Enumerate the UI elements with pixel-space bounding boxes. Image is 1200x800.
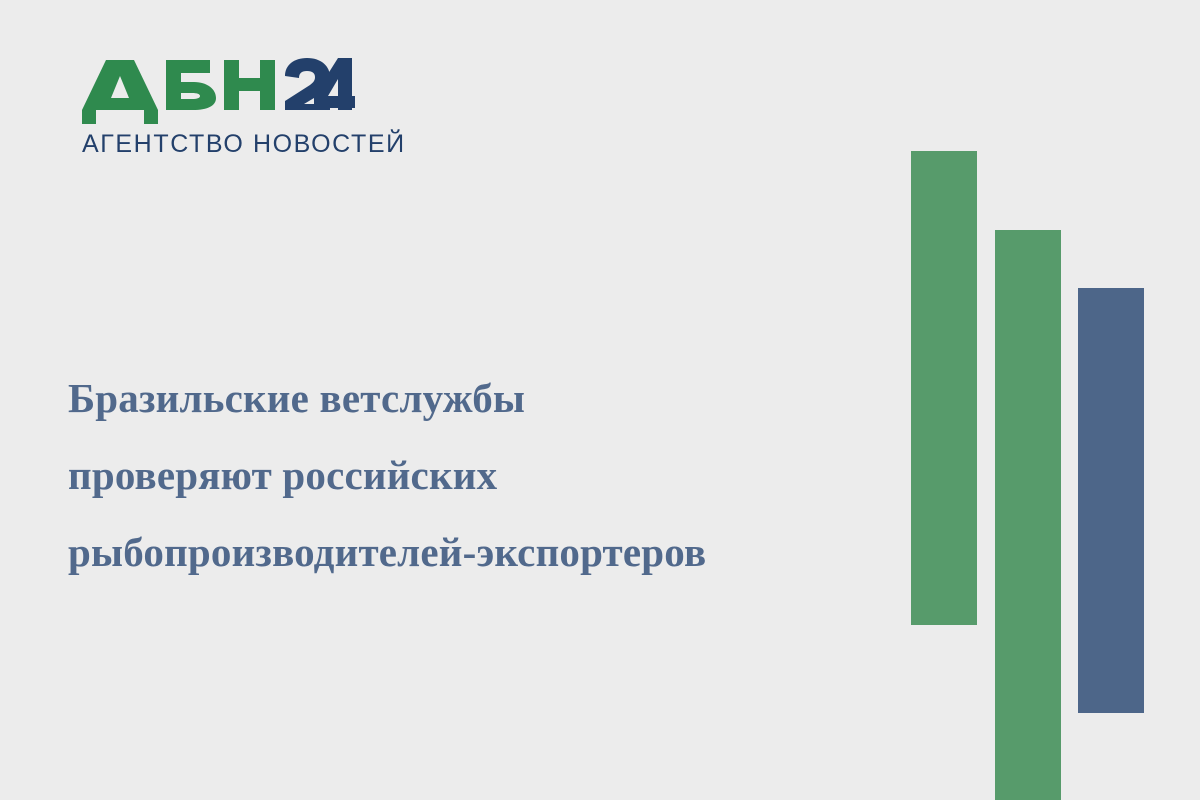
- headline-line-1: Бразильские ветслужбы: [68, 360, 868, 437]
- chart-bar: [995, 230, 1061, 800]
- abn24-logo[interactable]: АГЕНТСТВО НОВОСТЕЙ: [80, 58, 370, 158]
- logo-tagline: АГЕНТСТВО НОВОСТЕЙ: [82, 130, 406, 159]
- headline-line-3: рыбопроизводителей-экспортеров: [68, 514, 868, 591]
- logo-wordmark-svg: [80, 58, 355, 124]
- news-poster: АГЕНТСТВО НОВОСТЕЙ Бразильские ветслужбы…: [0, 0, 1200, 800]
- chart-bar: [1078, 288, 1144, 713]
- headline-line-2: проверяют российских: [68, 437, 868, 514]
- logo-letter-d-icon: [82, 60, 158, 124]
- headline: Бразильские ветслужбы проверяют российск…: [68, 360, 868, 591]
- logo-wordmark: [80, 58, 355, 124]
- logo-letter-b-icon: [166, 60, 216, 110]
- chart-bar: [911, 151, 977, 625]
- logo-letter-n-icon: [224, 60, 275, 110]
